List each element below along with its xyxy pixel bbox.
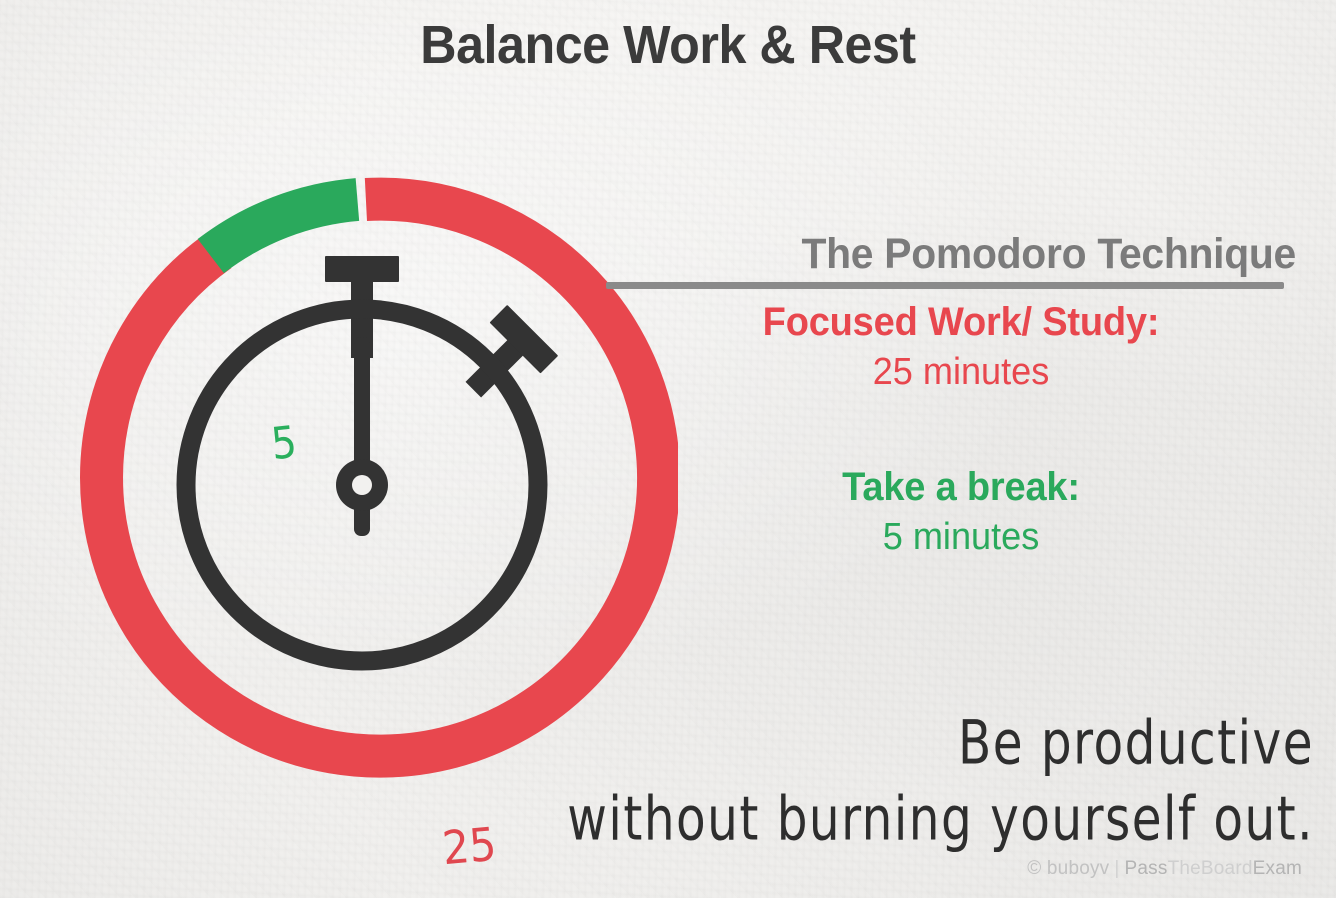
credit-site-second: TheBoard xyxy=(1168,858,1253,879)
tagline: Be productive without burning yourself o… xyxy=(474,718,1314,844)
credit-site-first: Pass xyxy=(1125,858,1168,879)
work-value: 25 minutes xyxy=(643,347,1280,398)
stopwatch-hub-inner xyxy=(352,475,372,495)
heading-underline-rule xyxy=(606,282,1284,289)
stopwatch-side-button xyxy=(448,305,558,415)
infographic-canvas: Balance Work & Rest 5 25 xyxy=(0,0,1336,898)
arc-segment-break xyxy=(211,200,358,257)
work-label: Focused Work/ Study: xyxy=(643,297,1280,347)
credit-site-third: Exam xyxy=(1253,858,1302,879)
page-title: Balance Work & Rest xyxy=(47,14,1289,76)
stopwatch-crown-bar xyxy=(325,256,399,282)
tagline-line-1: Be productive xyxy=(499,713,1314,774)
break-label: Take a break: xyxy=(643,462,1280,512)
section-take-a-break: Take a break: 5 minutes xyxy=(606,462,1296,563)
credit-separator: | xyxy=(1109,858,1124,879)
info-heading: The Pomodoro Technique xyxy=(641,232,1297,277)
credit-author: © buboyv xyxy=(1027,858,1109,879)
info-block: The Pomodoro Technique Focused Work/ Stu… xyxy=(606,232,1296,564)
credit-watermark: © buboyv|PassTheBoardExam xyxy=(1027,858,1302,880)
stopwatch-icon: 5 25 xyxy=(48,164,678,794)
section-focused-work: Focused Work/ Study: 25 minutes xyxy=(606,297,1296,398)
break-value: 5 minutes xyxy=(643,512,1280,563)
tagline-line-2: without burning yourself out. xyxy=(499,789,1314,850)
